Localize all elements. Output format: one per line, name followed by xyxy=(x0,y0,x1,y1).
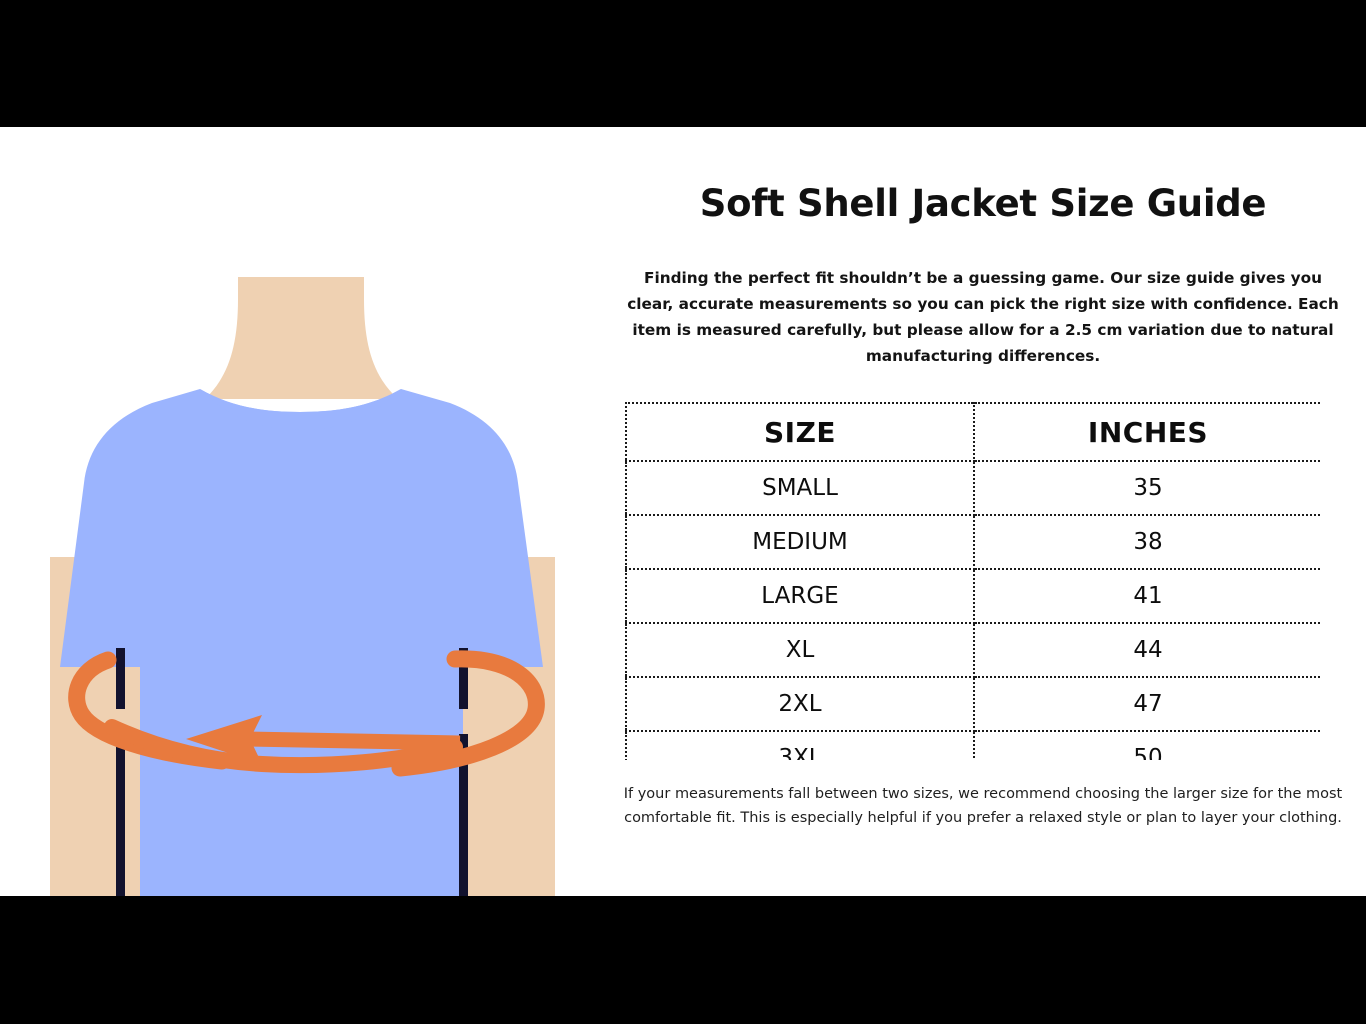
column-header-size: SIZE xyxy=(626,403,974,461)
cell-inches: 47 xyxy=(974,677,1321,731)
left-guide-line-upper xyxy=(116,648,125,709)
column-header-inches: INCHES xyxy=(974,403,1321,461)
cell-inches: 44 xyxy=(974,623,1321,677)
table-row: 3XL 50 xyxy=(626,731,1321,760)
letterbox-bar-bottom xyxy=(0,896,1366,1024)
table-row: XL 44 xyxy=(626,623,1321,677)
cell-size: 3XL xyxy=(626,731,974,760)
size-table-container: SIZE INCHES SMALL 35 MEDIUM 38 xyxy=(625,402,1321,760)
table-row: SMALL 35 xyxy=(626,461,1321,515)
page-title: Soft Shell Jacket Size Guide xyxy=(600,182,1366,225)
cell-inches: 41 xyxy=(974,569,1321,623)
size-table: SIZE INCHES SMALL 35 MEDIUM 38 xyxy=(625,402,1321,760)
footnote-paragraph: If your measurements fall between two si… xyxy=(620,782,1346,830)
cell-size: SMALL xyxy=(626,461,974,515)
size-guide-content: Soft Shell Jacket Size Guide Finding the… xyxy=(600,127,1366,896)
table-row: MEDIUM 38 xyxy=(626,515,1321,569)
table-header-row: SIZE INCHES xyxy=(626,403,1321,461)
table-row: 2XL 47 xyxy=(626,677,1321,731)
size-guide-canvas: Soft Shell Jacket Size Guide Finding the… xyxy=(0,127,1366,896)
intro-paragraph: Finding the perfect fit shouldn’t be a g… xyxy=(620,265,1346,369)
size-guide-page: Soft Shell Jacket Size Guide Finding the… xyxy=(0,0,1366,1024)
cell-size: 2XL xyxy=(626,677,974,731)
table-row: LARGE 41 xyxy=(626,569,1321,623)
cell-size: LARGE xyxy=(626,569,974,623)
left-guide-line-lower xyxy=(116,734,125,896)
cell-inches: 35 xyxy=(974,461,1321,515)
chest-measurement-illustration xyxy=(0,127,600,896)
cell-inches: 50 xyxy=(974,731,1321,760)
cell-inches: 38 xyxy=(974,515,1321,569)
cell-size: XL xyxy=(626,623,974,677)
neck-top-shape xyxy=(238,277,364,317)
arrow-front-run xyxy=(250,739,460,743)
cell-size: MEDIUM xyxy=(626,515,974,569)
letterbox-bar-top xyxy=(0,0,1366,127)
